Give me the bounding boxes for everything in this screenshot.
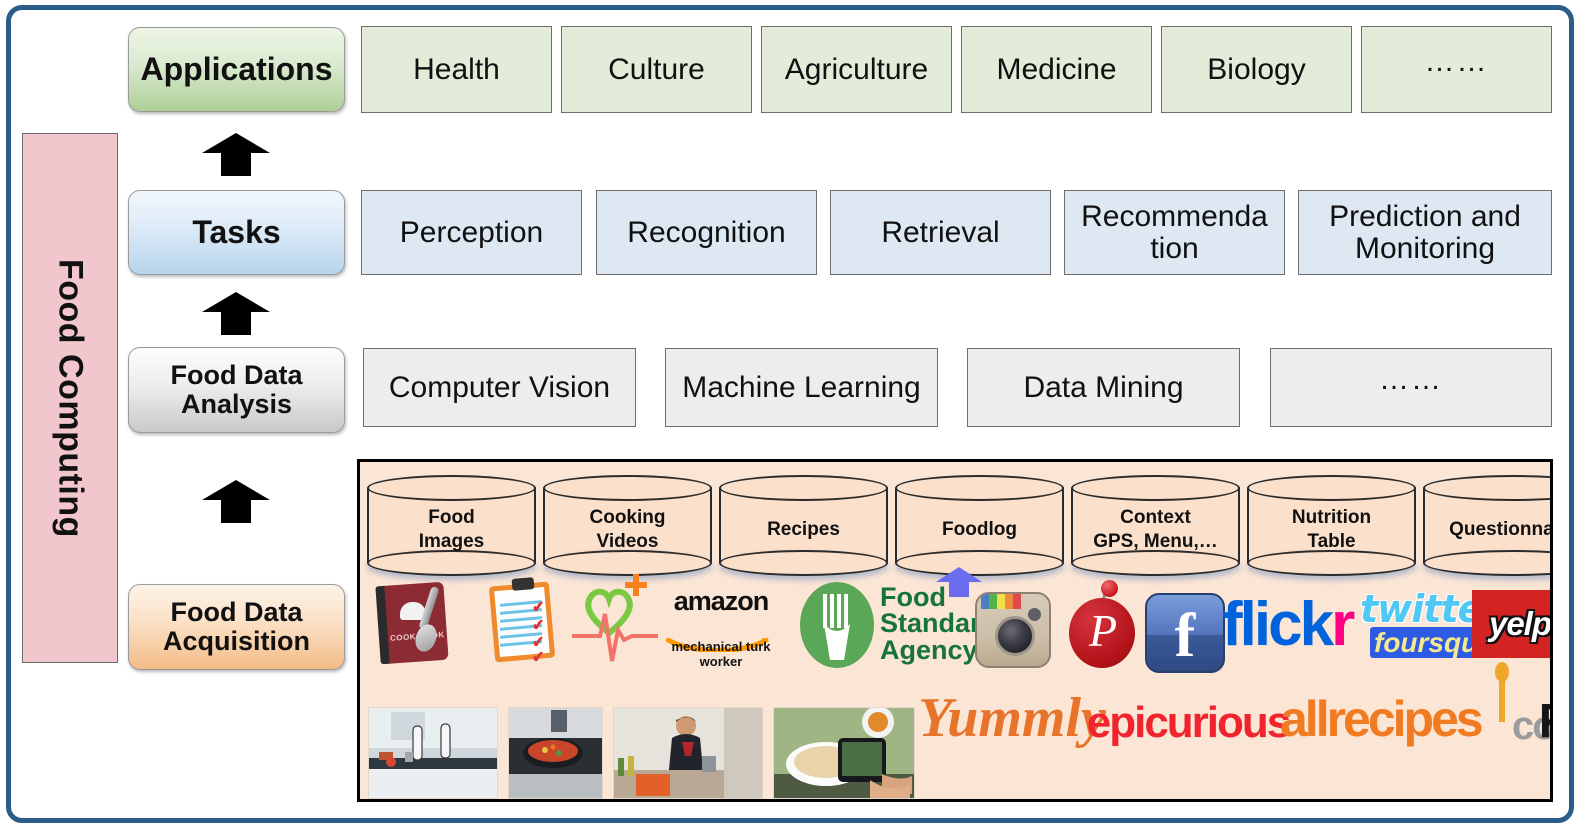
task-box-perception[interactable]: Perception [361,190,582,275]
cylinder-label: Recipes [719,501,888,558]
task-box-recognition[interactable]: Recognition [596,190,817,275]
task-box-recommendation[interactable]: Recommenda tion [1064,190,1285,275]
epicurious-logo: epicurious [1088,692,1288,754]
diagram-canvas: Food Computing Applications Tasks Food D… [0,0,1586,832]
cylinder-label-line1: Context [1093,506,1218,529]
cylinder-label: Context GPS, Menu,… [1071,501,1240,558]
cylinder-label: Cooking Videos [543,501,712,558]
cylinder-label: Foodlog [895,501,1064,558]
foodspotting-wordmark: Foodspotting [1539,698,1553,746]
allrecipes-wordmark: allrecipes [1280,691,1481,747]
layer-pill-applications[interactable]: Applications [128,27,345,112]
food-computing-banner: Food Computing [22,133,118,663]
analysis-ellipsis-label: …… [1379,364,1443,396]
layer-pill-applications-label: Applications [140,52,332,87]
plus-icon [625,574,647,596]
instagram-lens [995,616,1035,656]
pinterest-icon: P [1067,580,1139,674]
check-icon: ✔ [531,647,545,666]
data-source-cylinder-context[interactable]: Context GPS, Menu,… [1071,475,1240,576]
application-label: Biology [1207,54,1305,86]
task-label: Prediction and Monitoring [1299,201,1551,265]
data-source-cylinder-food-images[interactable]: Food Images [367,475,536,576]
yelp-logo: yelp [1470,588,1553,660]
analysis-box-more[interactable]: …… [1270,348,1552,427]
application-box-more[interactable]: …… [1361,26,1552,113]
cylinder-label: Questionnaire [1423,501,1553,558]
data-source-cylinder-foodlog[interactable]: Foodlog [895,475,1064,576]
task-label: Perception [400,217,543,249]
photo-cooking-pan [508,707,603,799]
facebook-icon: f [1145,593,1225,673]
instagram-stripe [1005,594,1013,609]
data-source-cylinder-recipes[interactable]: Recipes [719,475,888,576]
photo-robot-kitchen [368,707,498,799]
application-box-culture[interactable]: Culture [561,26,752,113]
cylinder-label-line1: Foodlog [942,518,1017,541]
amazon-subtitle-line1: mechanical turk [656,640,786,655]
food-computing-label: Food Computing [51,259,90,538]
data-source-cylinder-cooking-videos[interactable]: Cooking Videos [543,475,712,576]
cylinder-label-line2: Table [1292,530,1371,553]
layer-pill-food-data-acquisition[interactable]: Food Data Acquisition [128,584,345,670]
cylinder-top [895,475,1064,501]
flickr-wordmark-blue: flick [1222,590,1331,659]
task-label: Retrieval [881,217,999,249]
cylinder-label: Nutrition Table [1247,501,1416,558]
yummly-wordmark: Yummly [918,690,1106,746]
application-label: Medicine [996,54,1116,86]
layer-pill-acquisition-label-line1: Food Data [171,598,303,627]
cylinder-label-line1: Recipes [767,518,840,541]
data-source-cylinder-questionnaire[interactable]: Questionnaire [1423,475,1553,576]
cylinder-label-line2: Videos [590,530,666,553]
task-label: Recognition [627,217,785,249]
instagram-stripe [997,594,1005,609]
cookbook-icon: COOK BOOK [370,580,460,672]
analysis-box-machine-learning[interactable]: Machine Learning [665,348,938,427]
up-arrow-tasks-to-applications [201,131,271,177]
instagram-stripe [989,594,997,609]
layer-pill-tasks-label: Tasks [192,215,280,250]
analysis-box-computer-vision[interactable]: Computer Vision [363,348,636,427]
application-box-biology[interactable]: Biology [1161,26,1352,113]
application-label: Culture [608,54,705,86]
photo-phone-food-photo [773,707,915,799]
up-arrow-acquisition-to-analysis [201,478,271,524]
amazon-subtitle: mechanical turk worker [656,640,786,670]
facebook-letter: f [1145,605,1225,667]
task-box-retrieval[interactable]: Retrieval [830,190,1051,275]
cylinder-label-line2: GPS, Menu,… [1093,530,1218,553]
fork-icon [822,594,852,660]
cylinder-top [543,475,712,501]
instagram-camera-body [975,592,1051,668]
application-label: Agriculture [785,54,928,86]
allrecipes-logo: allrecipes com [1280,688,1553,754]
photo-person-cooking [613,707,763,799]
application-box-health[interactable]: Health [361,26,552,113]
pinterest-pin-head [1101,580,1118,597]
amazon-subtitle-line2: worker [656,655,786,670]
amazon-wordmark: amazon [674,586,769,616]
amazon-mechanical-turk-logo: amazon mechanical turk worker [656,584,786,672]
application-ellipsis-label: …… [1425,46,1489,78]
task-label: Recommenda tion [1065,201,1284,265]
cylinder-top [367,475,536,501]
health-heart-icon [578,572,658,676]
cylinder-label-line1: Questionnaire [1449,518,1553,541]
spoon-icon [1494,662,1510,724]
epicurious-wordmark: epicurious [1087,701,1290,745]
task-box-prediction-and-monitoring[interactable]: Prediction and Monitoring [1298,190,1552,275]
layer-pill-analysis-label-line1: Food Data [171,361,303,390]
clipboard-clamp [512,577,535,591]
application-label: Health [413,54,500,86]
data-source-cylinder-nutrition-table[interactable]: Nutrition Table [1247,475,1416,576]
cylinder-label-line1: Cooking [590,506,666,529]
cylinder-label-line1: Food [419,506,484,529]
flickr-wordmark-pink: r [1331,590,1352,659]
cylinder-label-line2: Images [419,530,484,553]
ekg-line-icon [572,606,658,668]
up-arrow-analysis-to-tasks [201,290,271,336]
instagram-stripe [1013,594,1021,609]
cylinder-top [1247,475,1416,501]
check-icon: ✔ [531,597,545,616]
yelp-wordmark: yelp [1489,605,1551,643]
analysis-box-data-mining[interactable]: Data Mining [967,348,1240,427]
layer-pill-acquisition-label-line2: Acquisition [163,627,310,656]
application-box-agriculture[interactable]: Agriculture [761,26,952,113]
analysis-label: Data Mining [1023,372,1183,404]
layer-pill-food-data-analysis[interactable]: Food Data Analysis [128,347,345,433]
clipboard-icon: ✔ ✔ ✔ ✔ [488,578,562,672]
cylinder-label: Food Images [367,501,536,558]
analysis-label: Computer Vision [389,372,610,404]
analysis-label: Machine Learning [682,372,921,404]
yummly-logo: Yummly [912,682,1112,754]
instagram-icon [975,592,1055,672]
application-box-medicine[interactable]: Medicine [961,26,1152,113]
cylinder-label-line1: Nutrition [1292,506,1371,529]
cylinder-top [1071,475,1240,501]
cylinder-top [719,475,888,501]
layer-pill-tasks[interactable]: Tasks [128,190,345,275]
instagram-flash [1028,608,1041,621]
layer-pill-analysis-label-line2: Analysis [181,390,292,419]
food-data-acquisition-panel: Food Images Cooking Videos Recip [357,459,1553,802]
foodspotting-logo: Foodspotting [1530,690,1553,754]
yelp-tile: yelp [1472,590,1553,658]
purple-up-arrow-foodlog [935,566,983,598]
pinterest-letter: P [1067,608,1139,654]
